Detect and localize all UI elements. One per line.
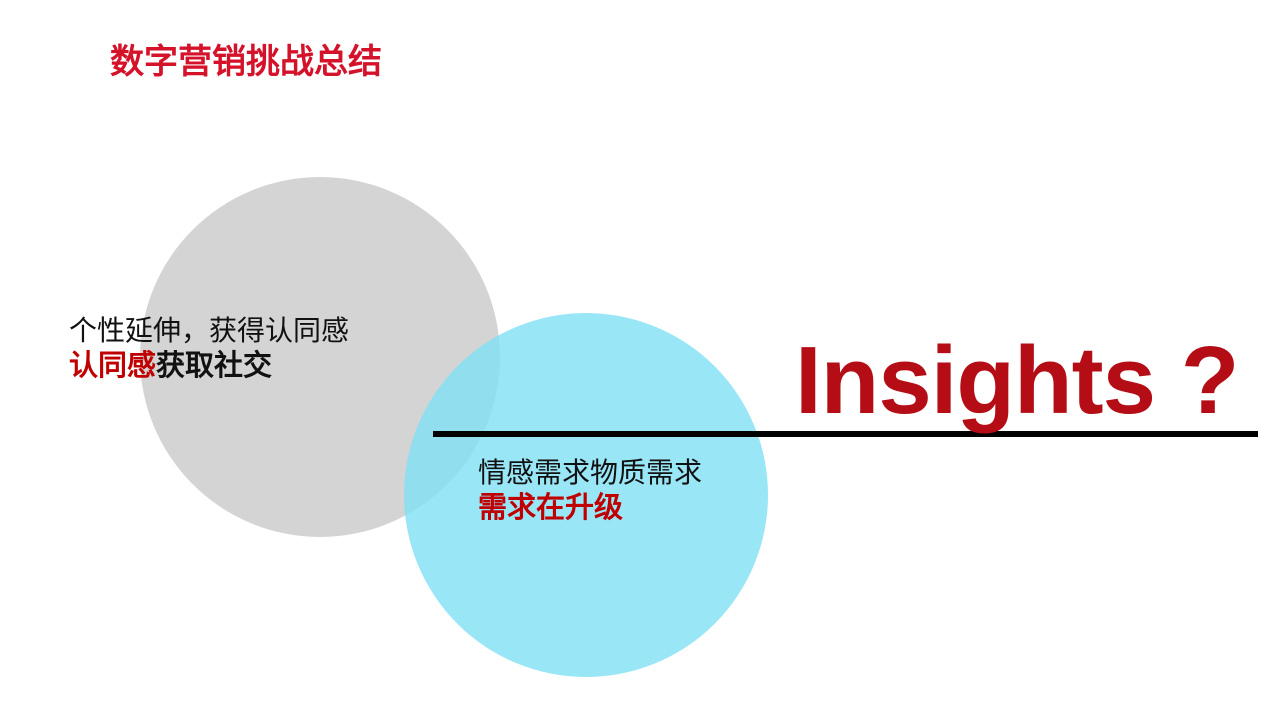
insights-headline: Insights ? — [795, 333, 1238, 429]
page-title: 数字营销挑战总结 — [110, 44, 382, 81]
callout-identity-strong-black: 获取社交 — [156, 350, 272, 382]
callout-demand: 情感需求物质需求 需求在升级 — [478, 456, 702, 525]
callout-identity-strong-red: 认同感 — [69, 350, 156, 382]
callout-identity-strong: 认同感获取社交 — [69, 349, 349, 383]
slide-canvas: 数字营销挑战总结 个性延伸，获得认同感 认同感获取社交 情感需求物质需求 需求在… — [0, 0, 1280, 720]
callout-identity-plain: 个性延伸，获得认同感 — [69, 314, 349, 347]
callout-identity: 个性延伸，获得认同感 认同感获取社交 — [69, 314, 349, 383]
callout-demand-strong-red: 需求在升级 — [478, 492, 623, 524]
callout-demand-plain: 情感需求物质需求 — [478, 456, 702, 489]
callout-demand-strong: 需求在升级 — [478, 491, 702, 525]
